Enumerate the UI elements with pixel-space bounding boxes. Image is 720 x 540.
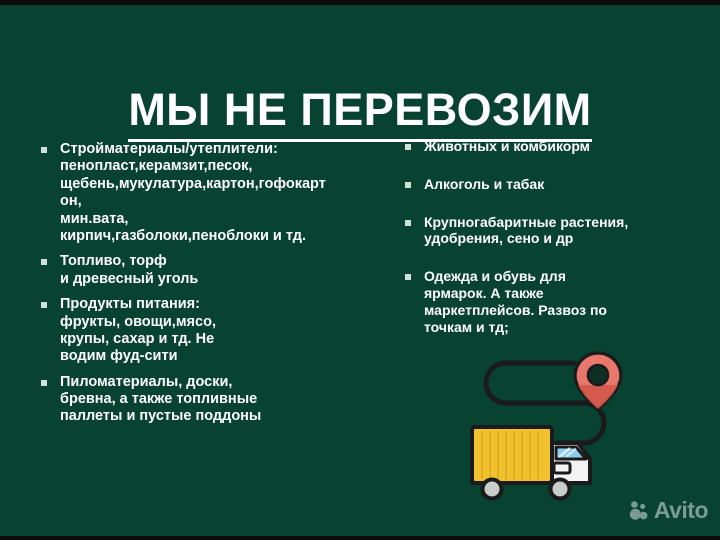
square-bullet-icon (405, 220, 411, 226)
square-bullet-icon (41, 259, 47, 265)
square-bullet-icon (41, 302, 47, 308)
poster-root: МЫ НЕ ПЕРЕВОЗИМ Стройматериалы/утеплител… (0, 0, 720, 540)
list-item-food-products: Продукты питания: фрукты, овощи,мясо, кр… (36, 296, 396, 366)
list-item-clothing-footwear: Одежда и обувь для ярмарок. А также марк… (400, 268, 700, 335)
poster-stage: МЫ НЕ ПЕРЕВОЗИМ Стройматериалы/утеплител… (0, 5, 720, 536)
truck-icon (472, 427, 590, 499)
list-item-label: Одежда и обувь для ярмарок. А также марк… (424, 268, 700, 335)
list-item-label: Топливо, торф и древесный уголь (60, 253, 396, 288)
avito-watermark: Avito (628, 499, 708, 522)
list-item-lumber: Пиломатериалы, доски, бревна, а также то… (36, 374, 396, 426)
list-item-large-plants: Крупногабаритные растения, удобрения, се… (400, 214, 700, 248)
list-item-animals-feed: Животных и комбикорм (400, 138, 700, 155)
list-item-label: Продукты питания: фрукты, овощи,мясо, кр… (60, 296, 396, 366)
avito-dots-logo-icon (628, 500, 650, 522)
delivery-truck-route-illustration (466, 351, 656, 519)
list-item-label: Стройматериалы/утеплители: пенопласт,кер… (60, 141, 396, 245)
square-bullet-icon (405, 144, 411, 150)
page-title: МЫ НЕ ПЕРЕВОЗИМ (128, 87, 591, 142)
square-bullet-icon (41, 380, 47, 386)
square-bullet-icon (41, 147, 47, 153)
square-bullet-icon (405, 182, 411, 188)
list-item-label: Животных и комбикорм (424, 138, 700, 155)
list-item-building-materials: Стройматериалы/утеплители: пенопласт,кер… (36, 141, 396, 245)
right-bullet-column: Животных и комбикорм Алкоголь и табак Кр… (400, 138, 700, 335)
list-item-label: Пиломатериалы, доски, бревна, а также то… (60, 374, 396, 426)
square-bullet-icon (405, 274, 411, 280)
list-item-label: Алкоголь и табак (424, 176, 700, 193)
avito-brand-label: Avito (654, 499, 708, 522)
list-item-label: Крупногабаритные растения, удобрения, се… (424, 214, 700, 248)
left-bullet-column: Стройматериалы/утеплители: пенопласт,кер… (36, 141, 396, 426)
list-item-fuel-peat: Топливо, торф и древесный уголь (36, 253, 396, 288)
list-item-alcohol-tobacco: Алкоголь и табак (400, 176, 700, 193)
